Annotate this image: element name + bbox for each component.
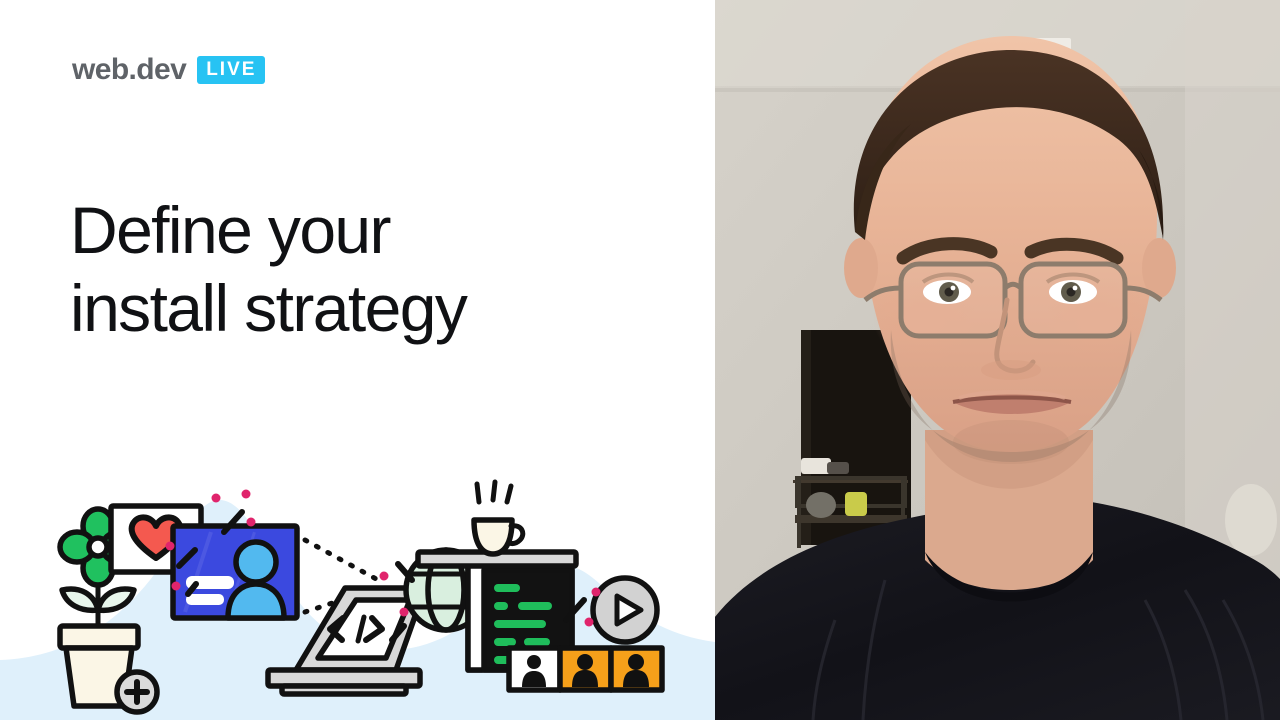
shelf-object-green xyxy=(845,492,867,516)
coffee-cup xyxy=(474,482,523,554)
presenter-image xyxy=(715,0,1280,720)
wall-light xyxy=(1225,484,1277,556)
illustration-band xyxy=(0,460,715,720)
slide-panel: web.dev LIVE Define your install strateg… xyxy=(0,0,715,720)
shelf-object-bowl xyxy=(806,492,836,518)
web-dev-live-logo: web.dev LIVE xyxy=(72,52,265,88)
shelf-object-dark xyxy=(827,462,849,474)
live-badge: LIVE xyxy=(197,56,265,84)
video-person-card xyxy=(173,526,297,618)
live-badge-label: LIVE xyxy=(206,60,256,79)
hero-illustration xyxy=(0,460,715,720)
play-button xyxy=(593,578,657,642)
participant-tiles xyxy=(509,648,662,690)
slide-headline: Define your install strategy xyxy=(70,192,670,348)
presentation-stage: web.dev LIVE Define your install strateg… xyxy=(0,0,1280,720)
presenter-video-feed xyxy=(715,0,1280,720)
wordmark: web.dev xyxy=(72,55,186,85)
shelf-object-box xyxy=(801,458,831,474)
